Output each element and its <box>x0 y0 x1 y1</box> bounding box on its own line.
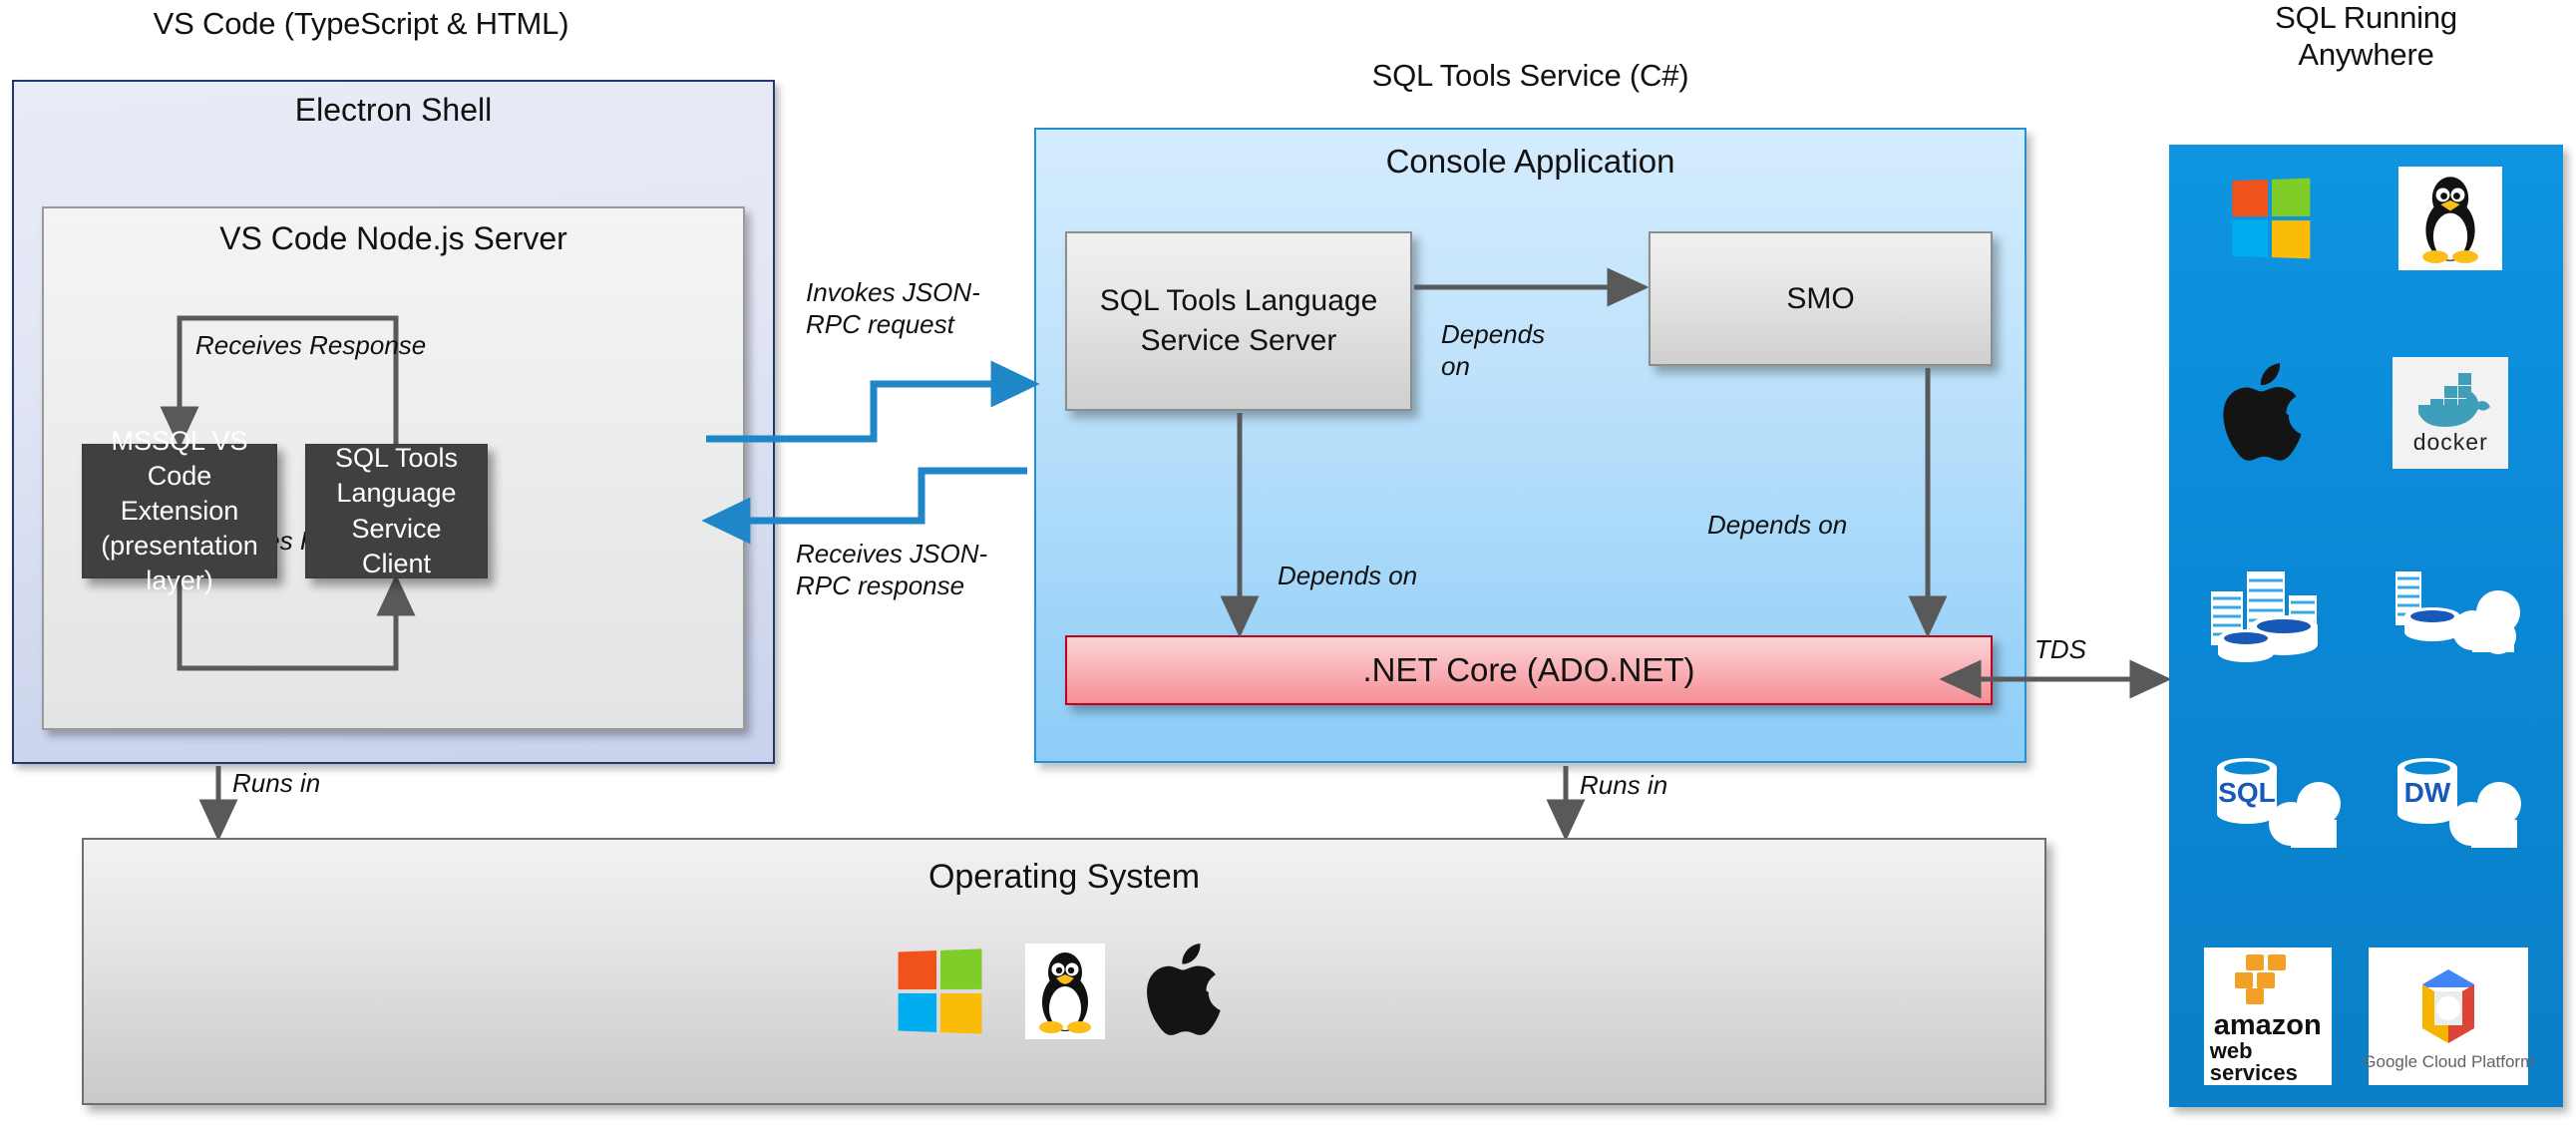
aws-label-line1: amazon <box>2214 1011 2322 1040</box>
operating-system-icons <box>84 940 2044 1042</box>
windows-logo-icon <box>899 948 982 1033</box>
gcp-label: Google Cloud Platform <box>2363 1053 2534 1070</box>
apple-logo-icon <box>1149 940 1233 1042</box>
amazon-web-services-logo-icon: amazon web services <box>2204 947 2332 1085</box>
edge-invokes-jsonrpc-request <box>706 384 1027 439</box>
azure-sql-database-icon: SQL <box>2201 752 2351 861</box>
edge-label-smo-depends-on: Depends on <box>1441 319 1551 382</box>
sql-running-anywhere-panel: docker <box>2169 145 2563 1107</box>
google-cloud-platform-logo-icon: Google Cloud Platform <box>2369 947 2528 1085</box>
cloud-row-apple-docker: docker <box>2185 357 2547 469</box>
edge-label-smo-depends-on-adonet: Depends on <box>1707 510 1847 541</box>
edge-receives-jsonrpc-response <box>714 471 1027 521</box>
azure-dw-label: DW <box>2404 777 2451 808</box>
edge-label-runs-in-middle: Runs in <box>1580 770 1667 801</box>
operating-system-title: Operating System <box>84 858 2044 897</box>
apple-logo-icon <box>2224 359 2316 468</box>
linux-penguin-logo-icon <box>2398 167 2502 270</box>
edge-label-runs-in-left: Runs in <box>232 768 320 799</box>
edge-label-tds: TDS <box>2034 634 2086 665</box>
operating-system-panel: Operating System <box>82 838 2046 1105</box>
linux-penguin-logo-icon <box>1025 944 1105 1039</box>
sql-server-cloud-icon <box>2387 557 2526 665</box>
edge-label-server-depends-on-adonet: Depends on <box>1278 561 1417 591</box>
azure-sql-data-warehouse-icon: DW <box>2382 752 2531 861</box>
docker-logo-icon: docker <box>2392 357 2508 469</box>
edge-label-invokes-jsonrpc-request: Invokes JSON-RPC request <box>806 277 995 340</box>
cloud-row-server-icons <box>2185 557 2547 665</box>
cloud-row-azure: SQL DW <box>2185 752 2547 861</box>
sql-server-onprem-icon <box>2206 557 2346 665</box>
edge-label-receives-jsonrpc-response: Receives JSON-RPC response <box>796 539 995 601</box>
aws-label-line2: web services <box>2210 1040 2326 1084</box>
windows-logo-icon <box>2232 179 2310 259</box>
cloud-row-public-clouds: amazon web services Google Cloud Platfor… <box>2185 947 2547 1085</box>
docker-label: docker <box>2413 429 2488 456</box>
cloud-row-os <box>2185 167 2547 270</box>
architecture-diagram: VS Code (TypeScript & HTML) SQL Tools Se… <box>0 0 2576 1134</box>
azure-sql-label: SQL <box>2218 777 2276 808</box>
